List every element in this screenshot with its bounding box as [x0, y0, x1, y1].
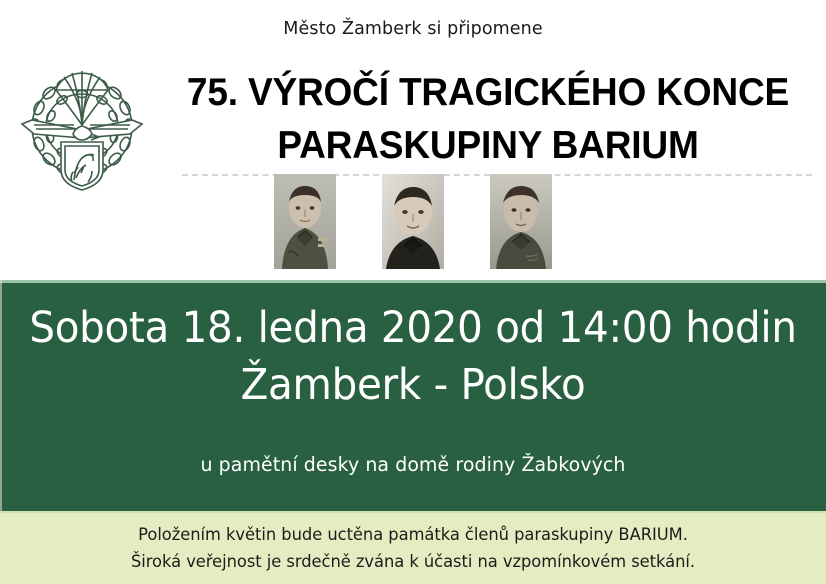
header-section: Město Žamberk si připomene	[0, 0, 826, 279]
event-details-band: Sobota 18. ledna 2020 od 14:00 hodin Žam…	[0, 280, 826, 511]
title-line-2: PARASKUPINY BARIUM	[167, 119, 809, 172]
footer-line-1: Položením květin bude uctěna památka čle…	[17, 522, 810, 549]
portrait-gallery	[0, 174, 826, 270]
page-title: 75. VÝROČÍ TRAGICKÉHO KONCE PARASKUPINY …	[150, 66, 826, 172]
portrait-soldier-1	[274, 174, 336, 269]
poster-root: Město Žamberk si připomene	[0, 0, 826, 584]
event-headline: Sobota 18. ledna 2020 od 14:00 hodin Žam…	[0, 300, 826, 414]
kicker-text: Město Žamberk si připomene	[0, 19, 826, 39]
event-location: Žamberk - Polsko	[25, 357, 801, 414]
event-date-time: Sobota 18. ledna 2020 od 14:00 hodin	[25, 300, 801, 357]
paratrooper-badge-icon	[12, 42, 152, 192]
portrait-soldier-2	[382, 174, 444, 269]
title-line-1: 75. VÝROČÍ TRAGICKÉHO KONCE	[167, 66, 809, 119]
footer-section: Položením květin bude uctěna památka čle…	[0, 511, 826, 584]
portrait-soldier-3	[490, 174, 552, 269]
event-venue-note: u pamětní desky na domě rodiny Žabkových	[12, 453, 813, 476]
footer-line-2: Široká veřejnost je srdečně zvána k účas…	[17, 549, 810, 576]
